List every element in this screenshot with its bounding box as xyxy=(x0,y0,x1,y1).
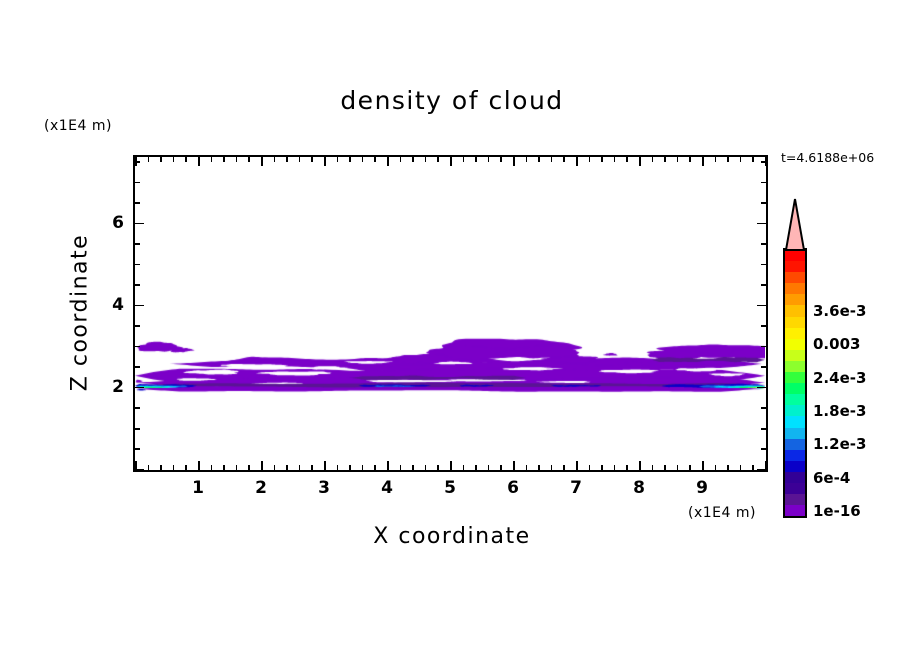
x-major-tick-top xyxy=(198,157,200,166)
x-minor-tick xyxy=(740,465,742,470)
colorbar-label: 1e-16 xyxy=(813,502,861,520)
x-minor-tick-top xyxy=(601,157,603,162)
y-minor-tick xyxy=(135,346,140,348)
x-minor-tick xyxy=(362,465,364,470)
x-major-tick xyxy=(450,461,452,470)
y-minor-tick-right xyxy=(761,243,766,245)
x-minor-tick xyxy=(677,465,679,470)
x-minor-tick xyxy=(500,465,502,470)
y-minor-tick xyxy=(135,448,140,450)
x-minor-tick xyxy=(425,465,427,470)
x-tick-label: 5 xyxy=(444,478,456,498)
x-major-tick-top xyxy=(702,157,704,166)
x-major-tick xyxy=(576,461,578,470)
y-major-tick xyxy=(135,305,144,307)
y-minor-tick-right xyxy=(761,448,766,450)
x-minor-tick-top xyxy=(223,157,225,162)
y-minor-tick xyxy=(135,264,140,266)
y-minor-tick xyxy=(135,161,140,163)
x-minor-tick xyxy=(299,465,301,470)
x-minor-tick-top xyxy=(664,157,666,162)
x-minor-tick-top xyxy=(715,157,717,162)
colorbar-segment xyxy=(785,372,805,383)
x-minor-tick-top xyxy=(689,157,691,162)
x-minor-tick-top xyxy=(752,157,754,162)
x-minor-tick xyxy=(311,465,313,470)
colorbar-segment xyxy=(785,450,805,461)
x-minor-tick-top xyxy=(173,157,175,162)
x-minor-tick-top xyxy=(299,157,301,162)
y-minor-tick-right xyxy=(761,202,766,204)
colorbar-segment xyxy=(785,439,805,450)
x-minor-tick-top xyxy=(475,157,477,162)
colorbar-segment xyxy=(785,272,805,283)
x-minor-tick-top xyxy=(538,157,540,162)
x-major-tick xyxy=(324,461,326,470)
colorbar-segment xyxy=(785,294,805,305)
x-minor-tick xyxy=(727,465,729,470)
x-minor-tick xyxy=(614,465,616,470)
figure-canvas: density of cloud (x1E4 m) t=4.6188e+06 1… xyxy=(0,0,904,654)
x-minor-tick xyxy=(185,465,187,470)
x-minor-tick-top xyxy=(211,157,213,162)
x-minor-tick xyxy=(148,465,150,470)
x-minor-tick-top xyxy=(412,157,414,162)
x-minor-tick-top xyxy=(551,157,553,162)
x-minor-tick-top xyxy=(337,157,339,162)
x-minor-tick xyxy=(211,465,213,470)
colorbar-segment xyxy=(785,405,805,416)
x-axis-title: X coordinate xyxy=(0,524,904,549)
x-minor-tick-top xyxy=(526,157,528,162)
x-minor-tick-top xyxy=(589,157,591,162)
x-minor-tick xyxy=(412,465,414,470)
y-minor-tick-right xyxy=(761,161,766,163)
colorbar-label: 1.8e-3 xyxy=(813,402,866,420)
y-minor-tick xyxy=(135,202,140,204)
x-minor-tick-top xyxy=(463,157,465,162)
colorbar-label: 3.6e-3 xyxy=(813,302,866,320)
y-axis-title: Z coordinate xyxy=(68,213,93,413)
y-minor-tick xyxy=(135,366,140,368)
x-minor-tick xyxy=(488,465,490,470)
x-minor-tick-top xyxy=(614,157,616,162)
y-axis-units-label: (x1E4 m) xyxy=(44,118,112,134)
x-minor-tick xyxy=(400,465,402,470)
x-minor-tick-top xyxy=(425,157,427,162)
x-minor-tick-top xyxy=(488,157,490,162)
x-minor-tick xyxy=(286,465,288,470)
x-minor-tick xyxy=(374,465,376,470)
y-minor-tick xyxy=(135,428,140,430)
x-major-tick-top xyxy=(324,157,326,166)
x-minor-tick xyxy=(626,465,628,470)
x-minor-tick xyxy=(601,465,603,470)
x-tick-label: 8 xyxy=(633,478,645,498)
y-minor-tick-right xyxy=(761,264,766,266)
colorbar-segment xyxy=(785,283,805,294)
x-major-tick xyxy=(702,461,704,470)
x-minor-tick-top xyxy=(286,157,288,162)
x-minor-tick xyxy=(551,465,553,470)
plot-area xyxy=(133,155,768,472)
colorbar-segment xyxy=(785,339,805,350)
x-minor-tick xyxy=(526,465,528,470)
x-minor-tick-top xyxy=(236,157,238,162)
y-minor-tick xyxy=(135,182,140,184)
x-minor-tick-top xyxy=(185,157,187,162)
x-minor-tick xyxy=(652,465,654,470)
y-minor-tick-right xyxy=(761,366,766,368)
y-major-tick-right xyxy=(757,469,766,471)
x-major-tick-top xyxy=(450,157,452,166)
x-minor-tick-top xyxy=(563,157,565,162)
colorbar-segment xyxy=(785,505,805,516)
colorbar-segment xyxy=(785,428,805,439)
x-minor-tick-top xyxy=(727,157,729,162)
x-minor-tick xyxy=(337,465,339,470)
x-major-tick xyxy=(261,461,263,470)
x-minor-tick xyxy=(563,465,565,470)
x-minor-tick xyxy=(160,465,162,470)
colorbar-segment xyxy=(785,261,805,272)
time-annotation: t=4.6188e+06 xyxy=(781,150,874,165)
colorbar-segment xyxy=(785,305,805,316)
x-minor-tick-top xyxy=(400,157,402,162)
colorbar-segment xyxy=(785,394,805,405)
y-major-tick xyxy=(135,387,144,389)
colorbar-segment xyxy=(785,416,805,427)
colorbar-arrow-outline-icon xyxy=(783,198,809,252)
y-major-tick-right xyxy=(757,387,766,389)
x-minor-tick xyxy=(589,465,591,470)
x-tick-label: 7 xyxy=(570,478,582,498)
y-minor-tick-right xyxy=(761,284,766,286)
y-tick-label: 6 xyxy=(104,213,124,233)
colorbar-segment xyxy=(785,483,805,494)
colorbar-segment xyxy=(785,350,805,361)
x-minor-tick-top xyxy=(437,157,439,162)
y-minor-tick xyxy=(135,407,140,409)
x-tick-label: 4 xyxy=(381,478,393,498)
y-major-tick-right xyxy=(757,305,766,307)
x-minor-tick xyxy=(274,465,276,470)
colorbar-segment xyxy=(785,328,805,339)
x-minor-tick-top xyxy=(740,157,742,162)
x-minor-tick-top xyxy=(626,157,628,162)
x-minor-tick xyxy=(248,465,250,470)
x-tick-label: 6 xyxy=(507,478,519,498)
colorbar-segment xyxy=(785,383,805,394)
x-minor-tick-top xyxy=(148,157,150,162)
y-major-tick xyxy=(135,469,144,471)
y-minor-tick-right xyxy=(761,346,766,348)
x-major-tick-top xyxy=(513,157,515,166)
x-minor-tick xyxy=(349,465,351,470)
colorbar-label: 1.2e-3 xyxy=(813,435,866,453)
y-minor-tick-right xyxy=(761,325,766,327)
x-major-tick xyxy=(198,461,200,470)
x-major-tick-top xyxy=(261,157,263,166)
x-major-tick-top xyxy=(576,157,578,166)
colorbar-segment xyxy=(785,494,805,505)
x-minor-tick-top xyxy=(362,157,364,162)
y-major-tick-right xyxy=(757,223,766,225)
x-minor-tick-top xyxy=(374,157,376,162)
x-minor-tick-top xyxy=(677,157,679,162)
x-minor-tick-top xyxy=(652,157,654,162)
x-major-tick-top xyxy=(639,157,641,166)
colorbar-segment xyxy=(785,317,805,328)
x-axis-units-label: (x1E4 m) xyxy=(688,505,756,521)
x-minor-tick-top xyxy=(160,157,162,162)
x-major-tick-top xyxy=(387,157,389,166)
x-minor-tick xyxy=(752,465,754,470)
x-minor-tick xyxy=(463,465,465,470)
y-major-tick xyxy=(135,223,144,225)
colorbar-label: 0.003 xyxy=(813,335,860,353)
y-minor-tick xyxy=(135,243,140,245)
x-minor-tick xyxy=(715,465,717,470)
y-minor-tick-right xyxy=(761,182,766,184)
x-minor-tick-top xyxy=(311,157,313,162)
x-minor-tick xyxy=(689,465,691,470)
x-minor-tick-top xyxy=(274,157,276,162)
colorbar-segment xyxy=(785,461,805,472)
x-minor-tick xyxy=(223,465,225,470)
x-minor-tick xyxy=(173,465,175,470)
x-tick-label: 2 xyxy=(255,478,267,498)
colorbar-scale xyxy=(783,248,807,518)
x-minor-tick xyxy=(236,465,238,470)
x-major-tick xyxy=(513,461,515,470)
x-minor-tick xyxy=(437,465,439,470)
x-major-tick xyxy=(387,461,389,470)
y-tick-label: 2 xyxy=(104,377,124,397)
page-title: density of cloud xyxy=(0,86,904,115)
y-minor-tick xyxy=(135,325,140,327)
x-minor-tick-top xyxy=(500,157,502,162)
x-minor-tick-top xyxy=(349,157,351,162)
colorbar-segment xyxy=(785,361,805,372)
y-minor-tick-right xyxy=(761,407,766,409)
x-minor-tick xyxy=(475,465,477,470)
colorbar-label: 6e-4 xyxy=(813,469,850,487)
contour-plot-canvas xyxy=(135,157,765,469)
y-tick-label: 4 xyxy=(104,295,124,315)
x-tick-label: 3 xyxy=(318,478,330,498)
x-minor-tick xyxy=(664,465,666,470)
y-minor-tick-right xyxy=(761,428,766,430)
colorbar-segment xyxy=(785,472,805,483)
x-minor-tick xyxy=(538,465,540,470)
x-tick-label: 1 xyxy=(192,478,204,498)
colorbar-label: 2.4e-3 xyxy=(813,369,866,387)
x-tick-label: 9 xyxy=(696,478,708,498)
x-minor-tick-top xyxy=(248,157,250,162)
y-minor-tick xyxy=(135,284,140,286)
x-major-tick xyxy=(639,461,641,470)
